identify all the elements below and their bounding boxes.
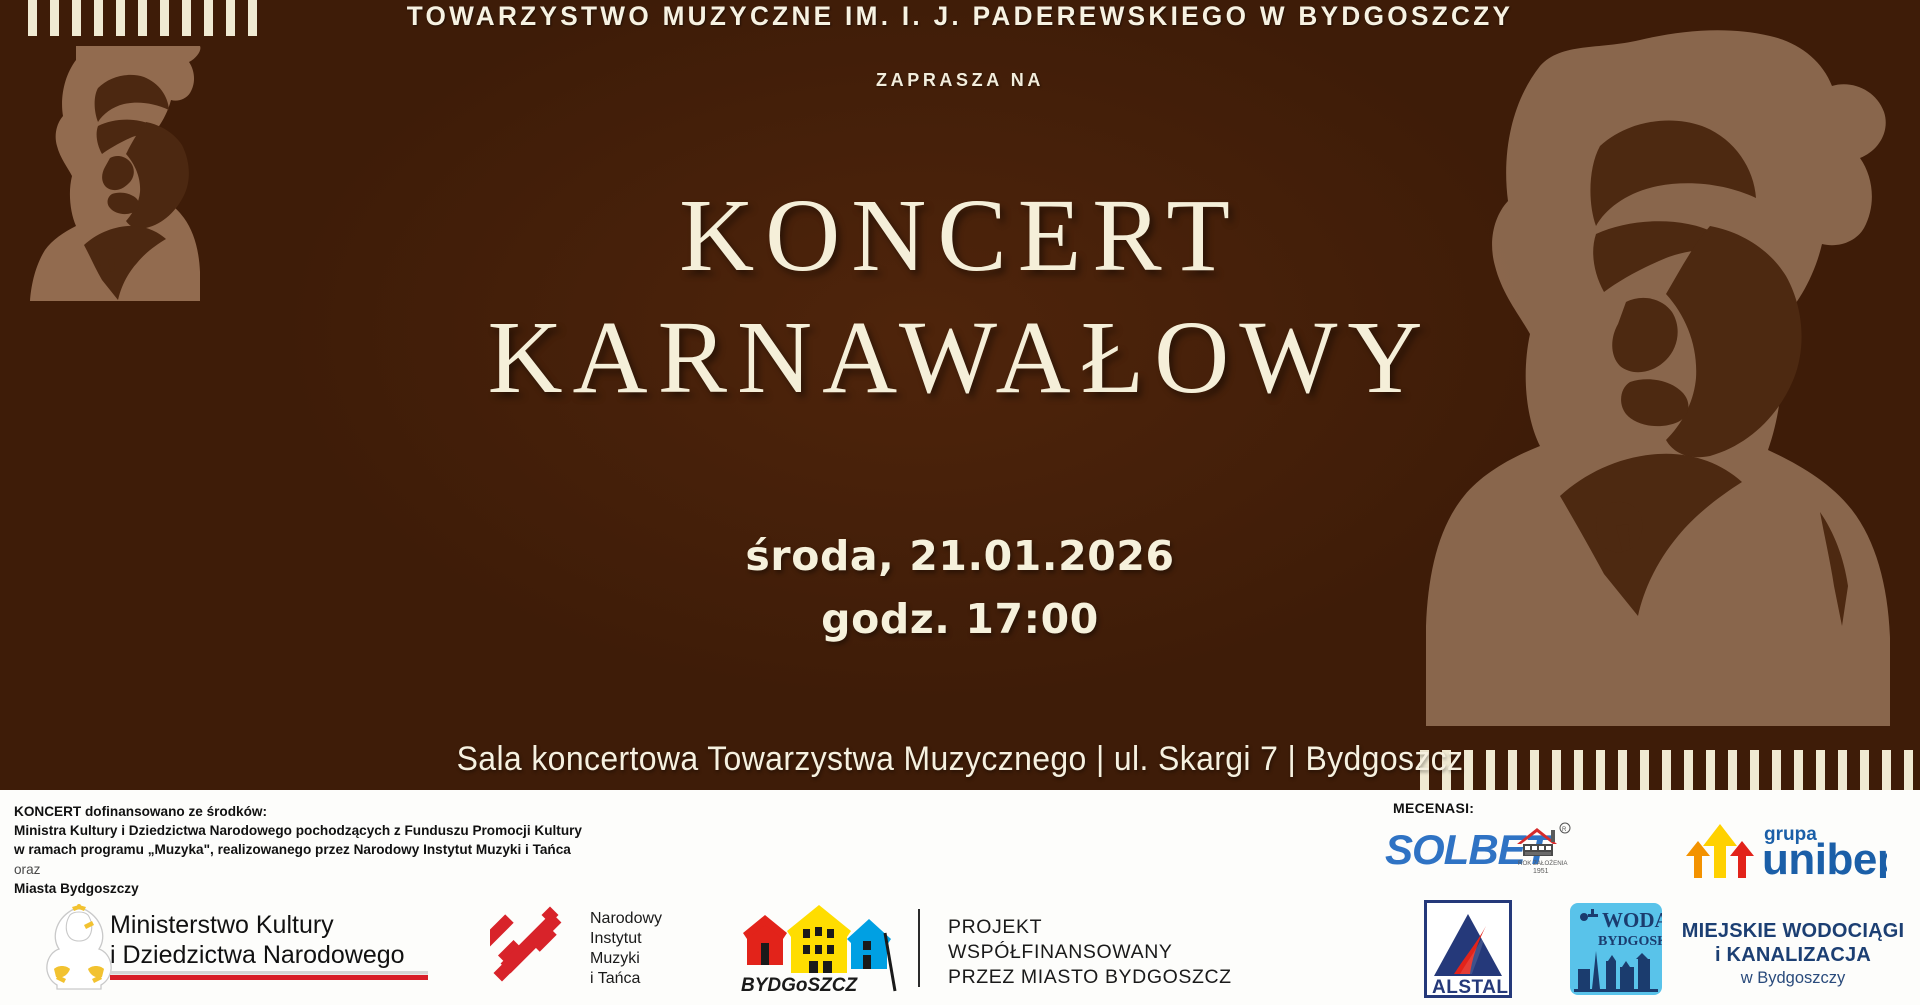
funding-line-2: Ministra Kultury i Dziedzictwa Narodoweg…	[14, 821, 582, 840]
ministry-of-culture-logo-icon: Ministerstwo Kultury i Dziedzictwa Narod…	[22, 903, 432, 995]
logo-divider	[918, 909, 920, 987]
funding-note: KONCERT dofinansowano ze środków: Minist…	[14, 802, 582, 898]
partner-logo-row: Ministerstwo Kultury i Dziedzictwa Narod…	[0, 895, 1920, 1005]
organization-name: TOWARZYSTWO MUZYCZNE IM. I. J. PADEREWSK…	[29, 0, 1891, 33]
mkidn-line-2: i Dziedzictwa Narodowego	[110, 941, 405, 969]
bydgoszcz-city-logo-icon: BYDGoSZCZ	[735, 903, 900, 995]
patrons-label: MECENASI:	[1393, 800, 1474, 816]
event-date: środa, 21.01.2026	[0, 525, 1920, 588]
bydgoszcz-wordmark: BYDGoSZCZ	[741, 975, 859, 995]
funding-line-1: KONCERT dofinansowano ze środków:	[14, 802, 582, 821]
sponsors-footer: KONCERT dofinansowano ze środków: Minist…	[0, 790, 1920, 1005]
unibep-logo-icon: grupa unibep	[1672, 816, 1887, 878]
funding-line-4: oraz	[14, 860, 582, 879]
event-datetime: środa, 21.01.2026 godz. 17:00	[0, 525, 1920, 651]
event-title: KONCERT KARNAWAŁOWY	[0, 175, 1920, 419]
woda-line-1: WODA	[1602, 908, 1662, 932]
funding-line-3: w ramach programu „Muzyka", realizowaneg…	[14, 840, 582, 859]
cofinanced-line-1: PROJEKT	[948, 915, 1232, 940]
alstal-wordmark: ALSTAL	[1432, 977, 1509, 998]
invitation-label: ZAPRASZA NA	[0, 70, 1920, 91]
nimit-line-2: Instytut	[590, 930, 642, 947]
mwik-line-2: i KANALIZACJA	[1678, 943, 1908, 967]
event-title-line-1: KONCERT	[0, 175, 1920, 297]
event-time: godz. 17:00	[0, 588, 1920, 651]
woda-line-2: BYDGOSKA	[1598, 934, 1662, 949]
mwik-line-3: w Bydgoszczy	[1678, 967, 1908, 989]
unibep-wordmark: unibep	[1762, 835, 1887, 878]
poster-hero: TOWARZYSTWO MUZYCZNE IM. I. J. PADEREWSK…	[0, 0, 1920, 790]
solbet-year: 1951	[1533, 868, 1549, 874]
svg-text:R: R	[1562, 827, 1567, 833]
cofinanced-note: PROJEKT WSPÓŁFINANSOWANY PRZEZ MIASTO BY…	[948, 915, 1232, 990]
mkidn-line-1: Ministerstwo Kultury	[110, 911, 334, 939]
solbet-logo-icon: SOLBET R ROK ZAŁOŻENIA 1951	[1385, 822, 1575, 874]
cofinanced-line-2: WSPÓŁFINANSOWANY	[948, 940, 1232, 965]
poster-content: TOWARZYSTWO MUZYCZNE IM. I. J. PADEREWSK…	[0, 0, 1920, 790]
event-venue: Sala koncertowa Towarzystwa Muzycznego |…	[58, 740, 1863, 779]
alstal-logo-icon: ALSTAL	[1424, 900, 1512, 998]
cofinanced-line-3: PRZEZ MIASTO BYDGOSZCZ	[948, 965, 1232, 990]
nimit-line-1: Narodowy	[590, 910, 662, 927]
mwik-wordmark: MIEJSKIE WODOCIĄGI i KANALIZACJA w Bydgo…	[1678, 919, 1908, 989]
nimit-line-4: i Tańca	[590, 970, 641, 987]
mwik-line-1: MIEJSKIE WODOCIĄGI	[1678, 919, 1908, 943]
woda-bydgoska-logo-icon: WODA BYDGOSKA	[1570, 903, 1662, 995]
nimit-line-3: Muzyki	[590, 950, 640, 967]
nimit-logo-icon: Narodowy Instytut Muzyki i Tańca	[490, 905, 678, 993]
solbet-tagline: ROK ZAŁOŻENIA	[1518, 860, 1568, 867]
event-title-line-2: KARNAWAŁOWY	[0, 297, 1920, 419]
